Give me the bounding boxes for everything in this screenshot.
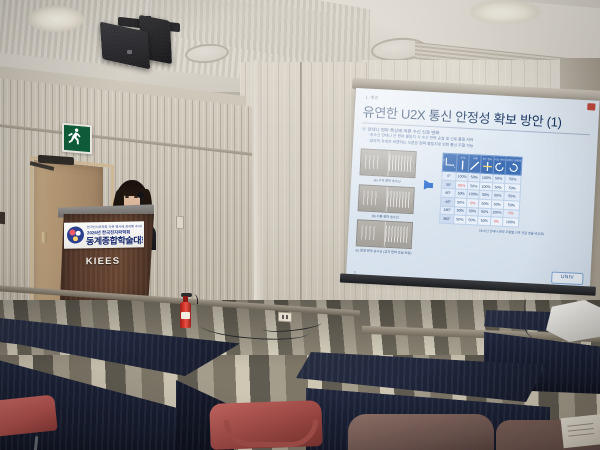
emergency-exit-sign [62,123,92,155]
chair-backrest [348,414,494,450]
chair-leg [33,436,39,450]
col-label-3: 이중 편파 [494,158,505,162]
outlet-hole [282,315,284,319]
table-top [0,318,240,376]
podium-microphone [137,192,144,198]
conference-room-photo: 한국전자파학회 주관 행사에 참여해 주셔서 감사합니다 2026년 한국전자파… [0,0,600,450]
door-handle[interactable] [42,232,47,244]
waveform-trace [365,155,380,170]
screen-indicator-dot [587,103,595,110]
dual-polarization-icon [481,160,493,172]
slide-body: (a) 수직 편파 송수신 (b) 수평 편파 송수신 (c) 원형 편파 송수… [355,149,588,265]
chair-armrest [224,420,318,447]
svg-text:y: y [443,158,445,162]
blue-right-arrow-icon [423,180,433,190]
running-man-icon [64,125,86,148]
table-cell: 100% [502,218,518,227]
ceiling-downlight [470,0,540,24]
slide-figure-column: (a) 수직 편파 송수신 (b) 수평 편파 송수신 (c) 원형 편파 송수… [355,149,416,256]
slant-polarization-icon [469,160,481,172]
slide-footer-logo: UNIV [551,271,584,285]
waveform-trace [361,225,376,240]
table-col-lhcp: 좌회전 원편파 [505,157,522,176]
figure-caption-2: (c) 원형 편파 송수신 (교차 편파 손실 보상) [355,248,411,255]
wall-seam [300,62,302,320]
speaker-badge [127,50,132,54]
rhcp-icon [493,161,505,173]
table-cell: 50% [466,216,479,225]
axis-icon: y x [443,157,457,169]
presenter-eye [125,196,129,198]
projection-screen: 1. 배경 유연한 U2X 통신 안정성 확보 방안 (1) ※ 안테나 편파 … [346,88,600,300]
table-col-horizontal: 수평 [468,155,481,174]
chair-brown [348,414,498,450]
waveform-vertical [359,149,416,179]
waveform-circular [356,219,413,249]
vertical-polarization-icon [457,159,469,171]
lhcp-icon [508,162,520,174]
podium-banner: 한국전자파학회 주관 행사에 참여해 주셔서 감사합니다 2026년 한국전자파… [64,221,144,248]
table-body: 0°100%50%100%50%50%30°85%50%100%50%50%60… [440,171,521,227]
table-cell: 0% [490,217,503,226]
waveform-trace [389,155,414,172]
waveform-trace [387,190,412,207]
table-cell: 50% [478,216,491,225]
presentation-slide: 1. 배경 유연한 U2X 통신 안정성 확보 방안 (1) ※ 안테나 편파 … [346,88,600,291]
table-note: (송수신 안테나 편파 조합별 신호 전달 효율 비교표) [439,225,585,238]
wall-plate [0,212,5,225]
ceiling-downlight [28,6,84,32]
table-col-dual: 이중 편파 [493,156,506,175]
outlet-hole [286,315,288,319]
wall-power-outlet[interactable] [278,312,292,323]
podium-banner-line3: 동계종합학술대회 [86,235,143,247]
chair-backrest [0,394,58,437]
waveform-horizontal [358,184,415,214]
slide-arrow-column [420,152,438,191]
table-cell: 50% [454,215,467,224]
podium-logo-kiees: KIEES [82,256,124,269]
table-col-vertical: 수직 [456,154,469,173]
table-row-header: 360° [440,214,454,223]
waveform-trace [385,226,410,243]
waveform-trace [363,190,378,205]
chair-red [210,402,330,450]
kiees-emblem-icon [67,226,84,243]
table-col-slant: 45° 경사 [481,155,494,174]
polarization-efficiency-table: y x 수직 [439,153,522,228]
paper-on-table [561,414,600,448]
fire-extinguisher-hose [190,294,198,304]
wall-pillar-edge [254,60,262,322]
wall-power-outlet[interactable] [176,216,184,230]
chair-red [0,398,64,450]
table-corner-cell: y x [442,153,457,172]
col-label-2: 45° 경사 [482,157,493,161]
projection-screen-surface: 1. 배경 유연한 U2X 통신 안정성 확보 방안 (1) ※ 안테나 편파 … [346,88,600,291]
